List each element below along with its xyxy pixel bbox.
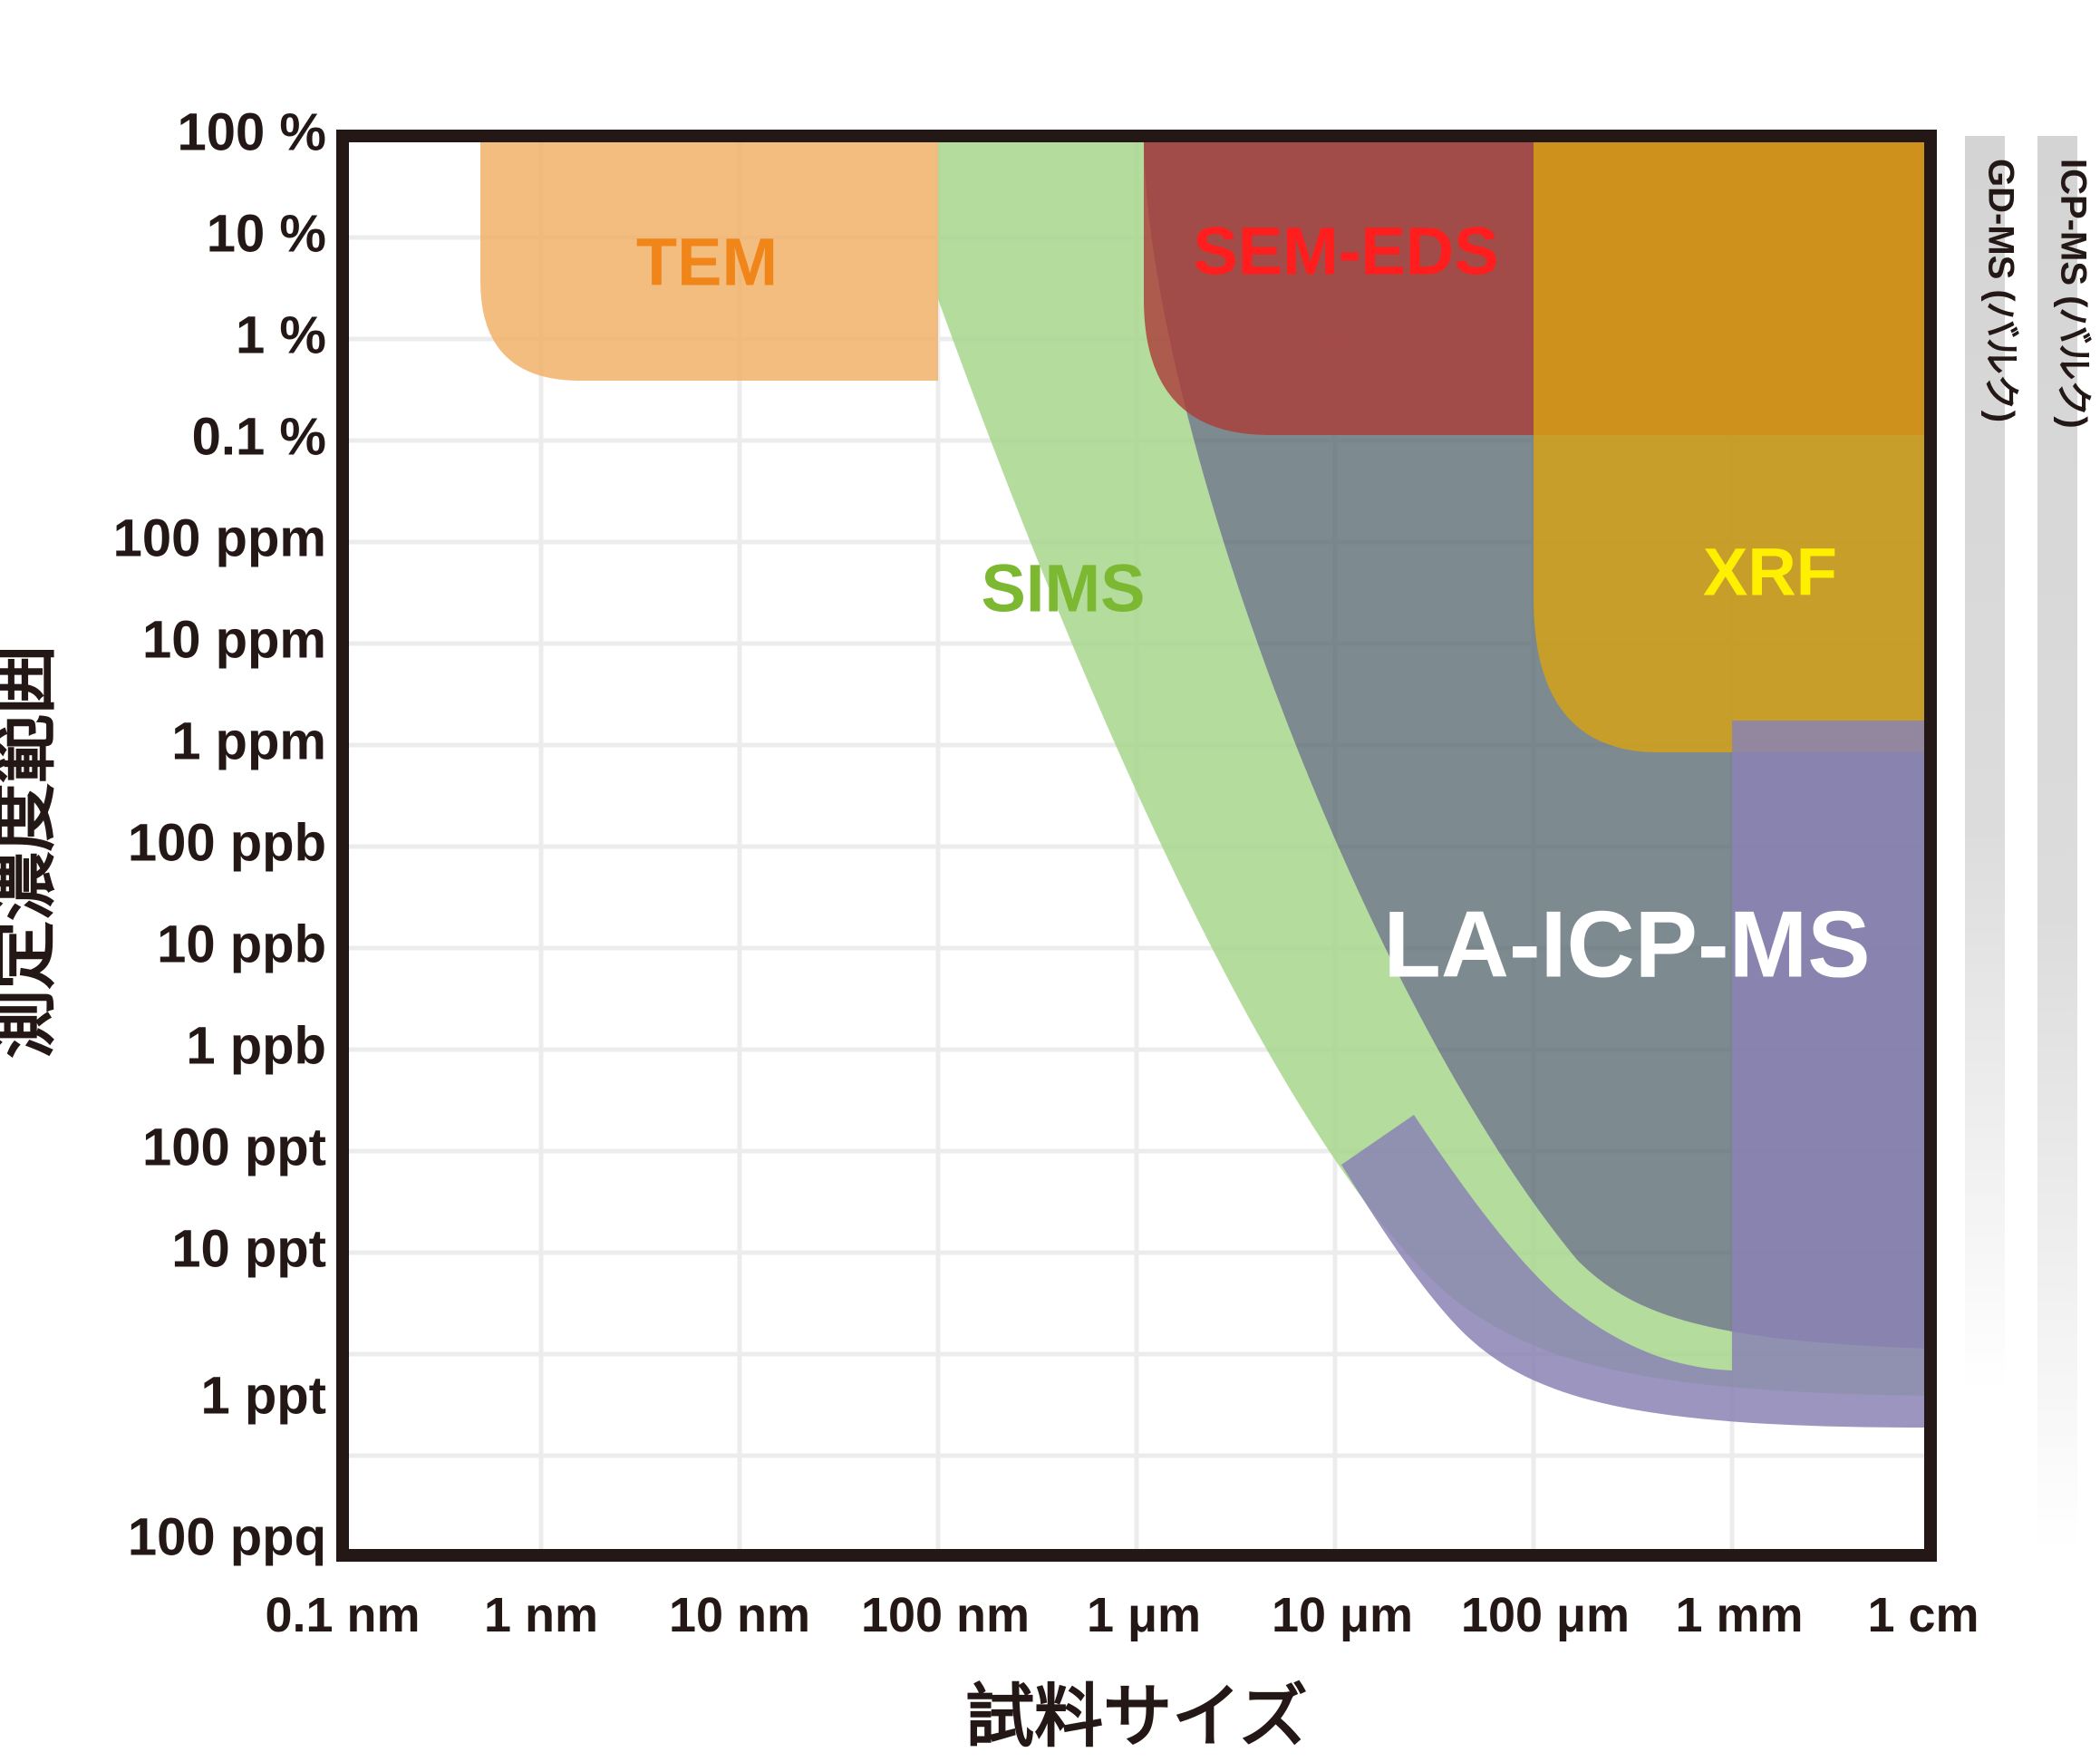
x-tick-2: 10 nm — [669, 1588, 810, 1642]
y-tick-9: 1 ppb — [186, 1016, 326, 1075]
y-tick-3: 0.1 % — [192, 407, 326, 466]
y-axis-title: 測定濃度範囲 — [0, 645, 63, 1059]
region-label-xrf: XRF — [1703, 535, 1837, 610]
y-tick-10: 100 ppt — [142, 1118, 326, 1176]
region-label-la-icp-ms: LA-ICP-MS — [1383, 892, 1870, 997]
x-tick-4: 1 μm — [1087, 1588, 1201, 1642]
x-tick-7: 1 mm — [1675, 1588, 1803, 1642]
x-tick-labels: 0.1 nm 1 nm 10 nm 100 nm 1 μm 10 μm 100 … — [265, 1588, 1979, 1642]
y-tick-1: 10 % — [207, 204, 326, 263]
x-tick-8: 1 cm — [1867, 1588, 1979, 1642]
y-tick-2: 1 % — [236, 305, 326, 364]
side-bar-label-icp-ms: ICP-MS (バルク) — [2053, 159, 2093, 429]
technique-coverage-chart: TEM SIMS SEM-EDS XRF LA-ICP-MS 100 % 10 … — [0, 0, 2100, 1762]
figure-root: TEM SIMS SEM-EDS XRF LA-ICP-MS 100 % 10 … — [0, 0, 2100, 1762]
y-tick-8: 10 ppb — [157, 915, 326, 973]
y-tick-11: 10 ppt — [171, 1219, 326, 1278]
y-tick-5: 10 ppm — [142, 610, 326, 669]
x-tick-5: 10 μm — [1272, 1588, 1413, 1642]
x-axis-title: 試料サイズ — [965, 1679, 1308, 1756]
y-tick-12: 1 ppt — [200, 1366, 326, 1425]
region-label-sims: SIMS — [982, 551, 1146, 626]
x-tick-0: 0.1 nm — [265, 1588, 420, 1642]
y-tick-7: 100 ppb — [128, 813, 326, 872]
side-bar-label-gd-ms: GD-MS (バルク) — [1980, 159, 2020, 422]
region-label-sem-eds: SEM-EDS — [1193, 214, 1498, 289]
y-tick-labels: 100 % 10 % 1 % 0.1 % 100 ppm 10 ppm 1 pp… — [113, 102, 326, 1566]
y-tick-4: 100 ppm — [113, 508, 326, 567]
x-tick-6: 100 μm — [1461, 1588, 1630, 1642]
y-tick-0: 100 % — [178, 102, 326, 161]
y-tick-13: 100 ppq — [128, 1507, 326, 1566]
x-tick-3: 100 nm — [861, 1588, 1030, 1642]
x-tick-1: 1 nm — [484, 1588, 598, 1642]
region-label-tem: TEM — [636, 225, 778, 300]
region-xrf — [1534, 136, 1931, 752]
y-tick-6: 1 ppm — [171, 712, 326, 770]
